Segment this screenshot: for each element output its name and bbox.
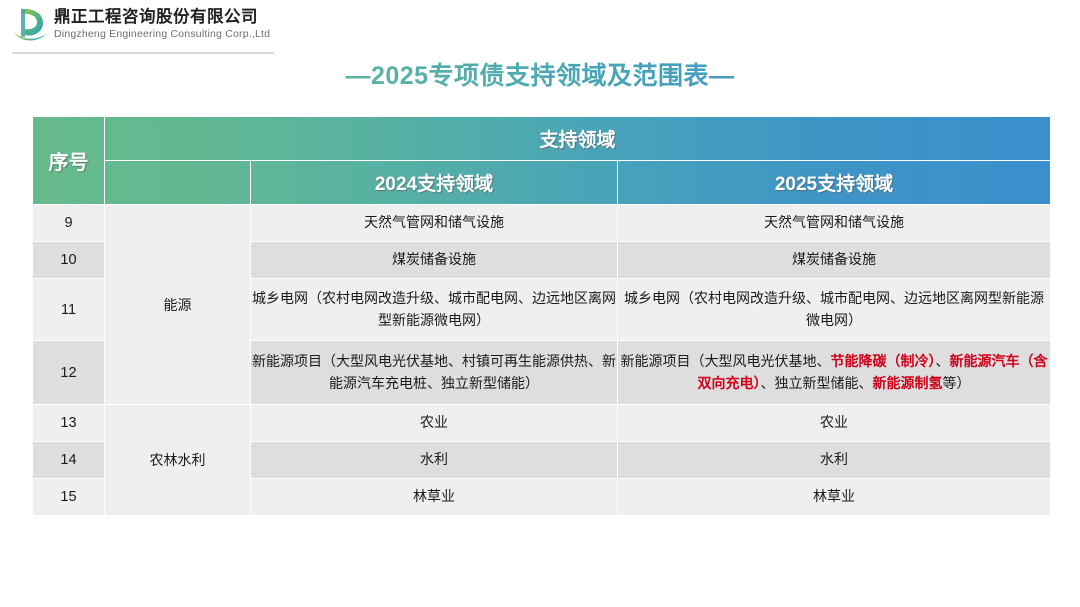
header-row-bottom: 2024支持领域 2025支持领域 (33, 161, 1051, 205)
table-head: 序号 支持领域 2024支持领域 2025支持领域 (33, 117, 1051, 205)
support-scope-table-container: 序号 支持领域 2024支持领域 2025支持领域 9能源天然气管网和储气设施天… (32, 116, 1050, 516)
cell-2024: 天然气管网和储气设施 (251, 205, 618, 242)
header-cell-no: 序号 (33, 117, 105, 205)
header-row-top: 序号 支持领域 (33, 117, 1051, 161)
brand-name-cn: 鼎正工程咨询股份有限公司 (54, 7, 270, 27)
highlighted-text: 新能源制氢 (873, 375, 943, 391)
brand-divider (12, 52, 274, 54)
brand-name-en: Dingzheng Engineering Consulting Corp.,L… (54, 27, 270, 41)
cell-2024: 新能源项目（大型风电光伏基地、村镇可再生能源供热、新能源汽车充电桩、独立新型储能… (251, 341, 618, 405)
header-cell-2025: 2025支持领域 (618, 161, 1051, 205)
highlighted-text: 节能降碳（制冷） (831, 353, 936, 369)
cell-2025: 林草业 (618, 479, 1051, 516)
page-title: —2025专项债支持领域及范围表— (0, 56, 1080, 92)
dingzheng-leaf-logo-icon (12, 4, 48, 44)
plain-text: 城乡电网（农村电网改造升级、城市配电网、边远地区离网型新能源微电网） (624, 290, 1044, 328)
cell-2024: 水利 (251, 442, 618, 479)
category-cell: 农林水利 (105, 405, 251, 516)
plain-text: 水利 (820, 451, 848, 467)
plain-text: 、 (936, 353, 950, 369)
cell-2025: 新能源项目（大型风电光伏基地、节能降碳（制冷）、新能源汽车（含双向充电）、独立新… (618, 341, 1051, 405)
cell-2024: 农业 (251, 405, 618, 442)
cell-2025: 城乡电网（农村电网改造升级、城市配电网、边远地区离网型新能源微电网） (618, 279, 1051, 341)
cell-2024: 林草业 (251, 479, 618, 516)
table-row: 9能源天然气管网和储气设施天然气管网和储气设施 (33, 205, 1051, 242)
header-cell-group: 支持领域 (105, 117, 1051, 161)
table-row: 13农林水利农业农业 (33, 405, 1051, 442)
category-cell: 能源 (105, 205, 251, 405)
plain-text: 农业 (820, 414, 848, 430)
row-number-cell: 12 (33, 341, 105, 405)
support-scope-table: 序号 支持领域 2024支持领域 2025支持领域 9能源天然气管网和储气设施天… (32, 116, 1051, 516)
plain-text: 、独立新型储能、 (761, 375, 873, 391)
row-number-cell: 15 (33, 479, 105, 516)
plain-text: 天然气管网和储气设施 (764, 214, 904, 230)
header-cell-2024: 2024支持领域 (251, 161, 618, 205)
row-number-cell: 14 (33, 442, 105, 479)
plain-text: 林草业 (813, 488, 855, 504)
table-body: 9能源天然气管网和储气设施天然气管网和储气设施10煤炭储备设施煤炭储备设施11城… (33, 205, 1051, 516)
cell-2024: 城乡电网（农村电网改造升级、城市配电网、边远地区离网型新能源微电网） (251, 279, 618, 341)
cell-2025: 水利 (618, 442, 1051, 479)
plain-text: 等） (943, 375, 971, 391)
row-number-cell: 9 (33, 205, 105, 242)
row-number-cell: 11 (33, 279, 105, 341)
cell-2024: 煤炭储备设施 (251, 242, 618, 279)
brand-header: 鼎正工程咨询股份有限公司 Dingzheng Engineering Consu… (12, 4, 270, 44)
plain-text: 新能源项目（大型风电光伏基地、 (621, 353, 831, 369)
header-cell-category (105, 161, 251, 205)
row-number-cell: 10 (33, 242, 105, 279)
brand-text-block: 鼎正工程咨询股份有限公司 Dingzheng Engineering Consu… (54, 7, 270, 41)
cell-2025: 煤炭储备设施 (618, 242, 1051, 279)
row-number-cell: 13 (33, 405, 105, 442)
plain-text: 煤炭储备设施 (792, 251, 876, 267)
cell-2025: 农业 (618, 405, 1051, 442)
cell-2025: 天然气管网和储气设施 (618, 205, 1051, 242)
